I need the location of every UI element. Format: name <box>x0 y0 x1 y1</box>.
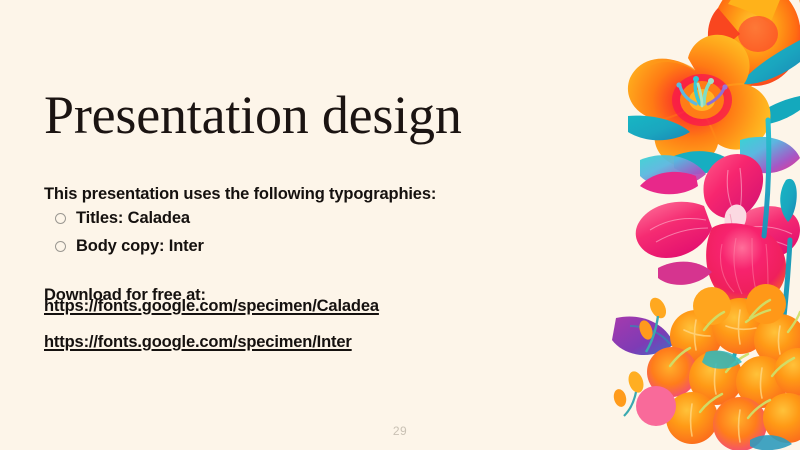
list-item-label: Titles: Caladea <box>76 209 190 228</box>
link-inter-specimen[interactable]: https://fonts.google.com/specimen/Inter <box>44 333 352 352</box>
floral-illustration <box>600 0 800 450</box>
slide-content: Presentation design This presentation us… <box>0 0 620 450</box>
leaf-magenta-low <box>658 262 712 285</box>
presentation-slide: Presentation design This presentation us… <box>0 0 800 450</box>
circle-outline-bullet-icon <box>55 241 66 252</box>
list-item: Body copy: Inter <box>44 232 204 260</box>
circle-outline-bullet-icon <box>55 213 66 224</box>
page-title: Presentation design <box>44 88 462 142</box>
link-caladea-specimen[interactable]: https://fonts.google.com/specimen/Calade… <box>44 297 379 316</box>
list-item: Titles: Caladea <box>44 204 204 232</box>
list-item-label: Body copy: Inter <box>76 237 204 256</box>
typography-list: Titles: Caladea Body copy: Inter <box>44 204 204 260</box>
intro-text: This presentation uses the following typ… <box>44 185 436 204</box>
freesia-cluster <box>612 284 800 450</box>
